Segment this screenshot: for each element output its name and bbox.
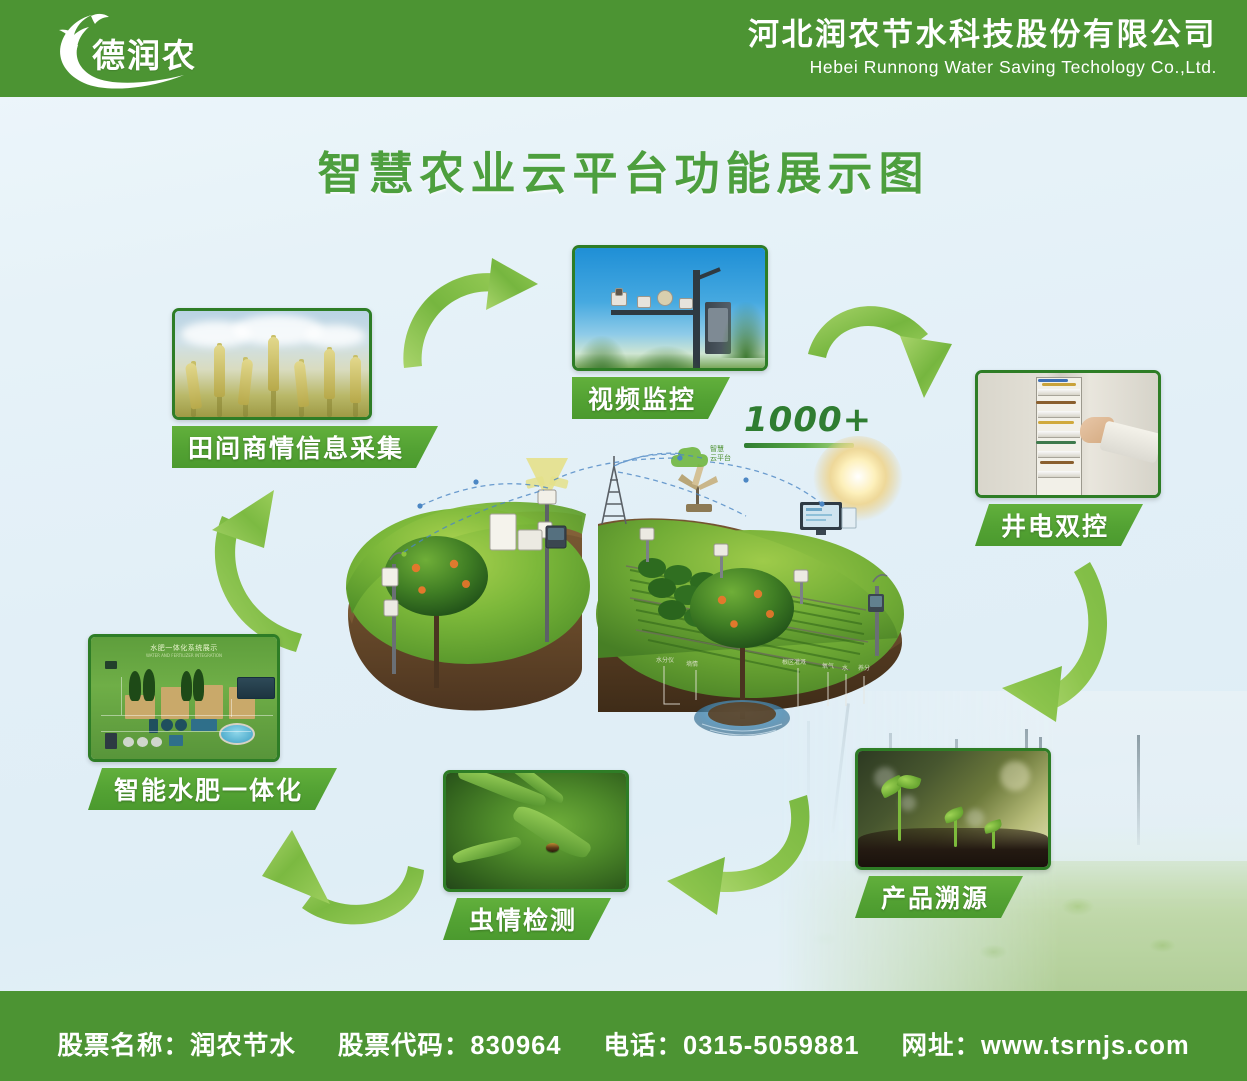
card-field-info[interactable]: 田间商情信息采集: [172, 308, 438, 468]
page-title: 智慧农业云平台功能展示图: [0, 137, 1247, 202]
footer-stock-code: 股票代码：830964: [338, 1025, 562, 1062]
arrow-trace-to-pest: [655, 795, 855, 935]
camera-pole-photo: [572, 245, 768, 371]
svg-text:水: 水: [842, 664, 848, 672]
logo-text: 德润农: [92, 29, 197, 77]
page-header: 德润农 河北润农节水科技股份有限公司 Hebei Runnong Water S…: [0, 0, 1247, 97]
footer-stock-name: 股票名称：润农节水: [57, 1025, 296, 1062]
arrow-video-to-well: [800, 292, 980, 412]
svg-text:智慧: 智慧: [710, 444, 724, 453]
card-label-field-info: 田间商情信息采集: [172, 426, 438, 468]
svg-text:根区灌溉: 根区灌溉: [782, 658, 806, 666]
page-footer: 股票名称：润农节水 股票代码：830964 电话：0315-5059881 网址…: [0, 1005, 1247, 1081]
card-pest-detect[interactable]: 虫情检测: [443, 770, 629, 940]
card-label-video-monitor: 视频监控: [572, 377, 730, 419]
svg-text:氧气: 氧气: [822, 662, 834, 670]
svg-text:水分仪: 水分仪: [656, 656, 674, 664]
telecom-tower: [602, 456, 626, 524]
card-well-electric[interactable]: 井电双控: [975, 370, 1161, 546]
arrow-pest-to-wf: [258, 808, 448, 943]
card-label-well-electric: 井电双控: [975, 504, 1143, 546]
card-video-monitor[interactable]: 视频监控: [572, 245, 768, 419]
smart-farm-terrain-diagram: 智慧 云平台 水分仪 墒情: [330, 418, 930, 758]
insect-leaf-photo: [443, 770, 629, 892]
arrow-well-to-trace: [980, 558, 1130, 748]
company-name-block: 河北润农节水科技股份有限公司 Hebei Runnong Water Savin…: [748, 17, 1217, 80]
electrical-panel-photo: [975, 370, 1161, 498]
company-name-cn: 河北润农节水科技股份有限公司: [748, 17, 1217, 54]
card-traceability[interactable]: 产品溯源: [855, 748, 1051, 918]
footer-website[interactable]: 网址：www.tsrnjs.com: [902, 1025, 1190, 1062]
card-label-pest-detect: 虫情检测: [443, 898, 611, 940]
card-label-traceability: 产品溯源: [855, 876, 1023, 918]
card-water-fertilizer[interactable]: 水肥一体化系统展示 WATER AND FERTILIZER INTEGRATI…: [88, 634, 337, 810]
company-name-en: Hebei Runnong Water Saving Techology Co.…: [748, 54, 1217, 80]
svg-text:养分: 养分: [858, 664, 870, 672]
svg-text:云平台: 云平台: [710, 453, 731, 462]
irrigation-schematic-photo: 水肥一体化系统展示 WATER AND FERTILIZER INTEGRATI…: [88, 634, 280, 762]
company-logo[interactable]: 德润农: [34, 7, 244, 91]
wheat-field-photo: [172, 308, 372, 420]
insect: [546, 843, 559, 852]
windmill: [678, 464, 718, 512]
svg-text:墒情: 墒情: [686, 660, 698, 668]
seedling-photo: [855, 748, 1051, 870]
sprinkler-pipe: [1137, 735, 1140, 845]
footer-phone: 电话：0315-5059881: [604, 1025, 860, 1062]
card-label-water-fertilizer: 智能水肥一体化: [88, 768, 337, 810]
terrain-svg: 智慧 云平台 水分仪 墒情: [330, 418, 930, 758]
